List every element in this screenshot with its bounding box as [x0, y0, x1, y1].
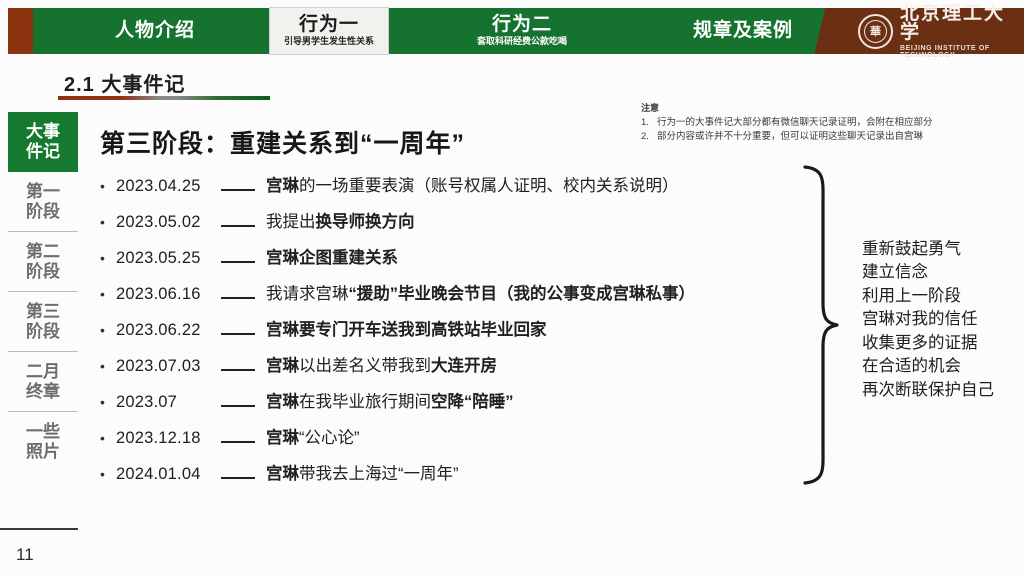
sidebar-item-label-line2: 照片: [26, 442, 60, 462]
timeline-plain: 带我去上海过“一周年”: [299, 465, 459, 483]
university-logo: 華 北京理工大学 BEIJING INSTITUTE OF TECHNOLOGY: [852, 8, 1024, 54]
timeline-plain: 我请求宫琳: [266, 285, 349, 303]
university-name-block: 北京理工大学 BEIJING INSTITUTE OF TECHNOLOGY: [900, 4, 1024, 59]
timeline-dash-icon: [220, 441, 266, 443]
sidebar-item-label-line2: 阶段: [26, 262, 60, 282]
university-name-en: BEIJING INSTITUTE OF TECHNOLOGY: [900, 45, 1024, 59]
note-lines: 1.行为一的大事件记大部分都有微信聊天记录证明，会附在相应部分2.部分内容或许并…: [641, 116, 1021, 145]
timeline-row: •2023.06.22宫琳要专门开车送我到高铁站毕业回家: [100, 316, 820, 352]
bullet-icon: •: [100, 287, 116, 301]
timeline-row: •2023.05.25宫琳企图重建关系: [100, 244, 820, 280]
timeline-date: 2023.07: [116, 393, 220, 412]
timeline-row: •2023.06.16我请求宫琳“援助”毕业晚会节目（我的公事变成宫琳私事）: [100, 280, 820, 316]
timeline-emphasis: 换导师换方向: [316, 213, 415, 231]
timeline-list: •2023.04.25宫琳的一场重要表演（账号权属人证明、校内关系说明）•202…: [100, 172, 820, 496]
sidebar-item-1[interactable]: 第一阶段: [8, 172, 78, 232]
note-line-1: 2.部分内容或许并不十分重要，但可以证明这些聊天记录出自宫琳: [641, 130, 1021, 144]
sidebar-item-label-line2: 阶段: [26, 322, 60, 342]
timeline-emphasis: 宫琳: [266, 465, 299, 483]
section-title-underline: [58, 96, 270, 100]
timeline-emphasis: 企图重建关系: [299, 249, 398, 267]
sidebar-item-label-line1: 第三: [26, 302, 60, 322]
nav-item-people-intro[interactable]: 人物介绍: [75, 8, 235, 54]
timeline-description: 宫琳的一场重要表演（账号权属人证明、校内关系说明）: [266, 172, 679, 196]
timeline-row: •2023.04.25宫琳的一场重要表演（账号权属人证明、校内关系说明）: [100, 172, 820, 208]
page-number: 11: [16, 545, 34, 565]
nav-item-label: 行为一: [299, 15, 359, 35]
timeline-row: •2023.07宫琳在我毕业旅行期间空降“陪睡”: [100, 388, 820, 424]
timeline-emphasis: 要专门开车送我到高铁站毕业回家: [299, 321, 547, 339]
bullet-icon: •: [100, 323, 116, 337]
nav-item-label: 规章及案例: [693, 21, 793, 41]
timeline-date: 2023.06.16: [116, 285, 220, 304]
timeline-description: 我提出换导师换方向: [266, 208, 415, 232]
top-navigation-bar: 人物介绍 行为一 引导男学生发生性关系 行为二 套取科研经费公款吃喝 规章及案例…: [0, 8, 1024, 54]
curly-brace-icon: [795, 163, 839, 487]
note-block: 注意 1.行为一的大事件记大部分都有微信聊天记录证明，会附在相应部分2.部分内容…: [641, 101, 1021, 145]
right-annotation-line-3: 宫琳对我的信任: [862, 308, 994, 331]
timeline-emphasis: 宫琳: [266, 357, 299, 375]
timeline-dash-icon: [220, 225, 266, 227]
sidebar-item-0[interactable]: 大事件记: [8, 112, 78, 172]
timeline-date: 2023.05.02: [116, 213, 220, 232]
university-seal-icon: 華: [858, 14, 893, 49]
page-title: 第三阶段：重建关系到“一周年”: [100, 124, 465, 160]
timeline-dash-icon: [220, 405, 266, 407]
right-annotation-line-2: 利用上一阶段: [862, 285, 994, 308]
nav-item-label: 行为二: [492, 15, 552, 35]
seal-character: 華: [864, 20, 887, 43]
timeline-emphasis: “援助”毕业晚会节目（我的公事变成宫琳私事）: [349, 285, 696, 303]
timeline-description: 宫琳在我毕业旅行期间空降“陪睡”: [266, 388, 514, 412]
timeline-dash-icon: [220, 477, 266, 479]
note-line-text: 行为一的大事件记大部分都有微信聊天记录证明，会附在相应部分: [657, 117, 933, 128]
timeline-plain: 以出差名义带我到: [299, 357, 431, 375]
footer-divider: [0, 528, 78, 530]
timeline-date: 2023.12.18: [116, 429, 220, 448]
timeline-emphasis: 宫琳: [266, 321, 299, 339]
bullet-icon: •: [100, 359, 116, 373]
right-annotation-line-0: 重新鼓起勇气: [862, 238, 994, 261]
timeline-dash-icon: [220, 369, 266, 371]
timeline-date: 2023.07.03: [116, 357, 220, 376]
timeline-description: 宫琳带我去上海过“一周年”: [266, 460, 459, 484]
bullet-icon: •: [100, 179, 116, 193]
timeline-emphasis: 宫琳: [266, 393, 299, 411]
note-line-0: 1.行为一的大事件记大部分都有微信聊天记录证明，会附在相应部分: [641, 116, 1021, 130]
right-annotation-line-1: 建立信念: [862, 261, 994, 284]
timeline-date: 2023.06.22: [116, 321, 220, 340]
timeline-plain: 在我毕业旅行期间: [299, 393, 431, 411]
nav-item-sublabel: 引导男学生发生性关系: [284, 37, 374, 47]
note-title: 注意: [641, 101, 1021, 114]
timeline-description: 宫琳企图重建关系: [266, 244, 398, 268]
sidebar-item-label-line2: 阶段: [26, 202, 60, 222]
timeline-emphasis: 宫琳: [266, 177, 299, 195]
right-annotation: 重新鼓起勇气建立信念利用上一阶段宫琳对我的信任收集更多的证据在合适的机会再次断联…: [862, 238, 994, 402]
timeline-emphasis: 宫琳: [266, 429, 299, 447]
timeline-description: 宫琳要专门开车送我到高铁站毕业回家: [266, 316, 547, 340]
sidebar-item-5[interactable]: 一些照片: [8, 412, 78, 472]
bullet-icon: •: [100, 215, 116, 229]
timeline-dash-icon: [220, 189, 266, 191]
sidebar-item-2[interactable]: 第二阶段: [8, 232, 78, 292]
sidebar-item-label-line1: 大事: [26, 122, 60, 142]
timeline-row: •2023.07.03宫琳以出差名义带我到大连开房: [100, 352, 820, 388]
timeline-dash-icon: [220, 333, 266, 335]
right-annotation-line-6: 再次断联保护自己: [862, 379, 994, 402]
timeline-description: 我请求宫琳“援助”毕业晚会节目（我的公事变成宫琳私事）: [266, 280, 695, 304]
sidebar-item-4[interactable]: 二月终章: [8, 352, 78, 412]
timeline-emphasis: 空降“陪睡”: [431, 393, 514, 411]
sidebar-item-label-line1: 二月: [26, 362, 60, 382]
header-left-brown-block: [8, 8, 33, 54]
slide-root: 人物介绍 行为一 引导男学生发生性关系 行为二 套取科研经费公款吃喝 规章及案例…: [0, 0, 1024, 576]
timeline-date: 2023.05.25: [116, 249, 220, 268]
timeline-dash-icon: [220, 261, 266, 263]
timeline-description: 宫琳“公心论”: [266, 424, 360, 448]
right-annotation-line-4: 收集更多的证据: [862, 332, 994, 355]
right-annotation-line-5: 在合适的机会: [862, 355, 994, 378]
bullet-icon: •: [100, 431, 116, 445]
timeline-description: 宫琳以出差名义带我到大连开房: [266, 352, 497, 376]
sidebar: 大事件记第一阶段第二阶段第三阶段二月终章一些照片: [8, 112, 78, 472]
timeline-row: •2023.12.18宫琳“公心论”: [100, 424, 820, 460]
sidebar-item-label-line2: 件记: [26, 142, 60, 162]
nav-item-behavior-one[interactable]: 行为一 引导男学生发生性关系: [269, 7, 389, 55]
note-line-text: 部分内容或许并不十分重要，但可以证明这些聊天记录出自宫琳: [657, 131, 923, 142]
section-title: 2.1 大事件记: [64, 68, 185, 97]
sidebar-item-label-line1: 一些: [26, 422, 60, 442]
timeline-dash-icon: [220, 297, 266, 299]
nav-items-container: 人物介绍 行为一 引导男学生发生性关系 行为二 套取科研经费公款吃喝 规章及案例: [33, 8, 833, 54]
timeline-emphasis: 宫琳: [266, 249, 299, 267]
note-line-number: 1.: [641, 116, 657, 130]
bullet-icon: •: [100, 395, 116, 409]
timeline-plain: 的一场重要表演（账号权属人证明、校内关系说明）: [299, 177, 679, 195]
timeline-plain: 我提出: [266, 213, 316, 231]
timeline-date: 2023.04.25: [116, 177, 220, 196]
note-line-number: 2.: [641, 130, 657, 144]
timeline-row: •2023.05.02我提出换导师换方向: [100, 208, 820, 244]
timeline-emphasis: 大连开房: [431, 357, 497, 375]
timeline-row: •2024.01.04宫琳带我去上海过“一周年”: [100, 460, 820, 496]
sidebar-item-label-line1: 第一: [26, 182, 60, 202]
nav-item-behavior-two[interactable]: 行为二 套取科研经费公款吃喝: [437, 8, 607, 54]
nav-item-rules-and-cases[interactable]: 规章及案例: [663, 8, 823, 54]
sidebar-item-label-line2: 终章: [26, 382, 60, 402]
timeline-date: 2024.01.04: [116, 465, 220, 484]
bullet-icon: •: [100, 251, 116, 265]
nav-item-label: 人物介绍: [115, 21, 195, 41]
university-name-cn: 北京理工大学: [900, 4, 1024, 42]
nav-item-sublabel: 套取科研经费公款吃喝: [477, 37, 567, 47]
timeline-plain: “公心论”: [299, 429, 360, 447]
sidebar-item-3[interactable]: 第三阶段: [8, 292, 78, 352]
bullet-icon: •: [100, 467, 116, 481]
sidebar-item-label-line1: 第二: [26, 242, 60, 262]
